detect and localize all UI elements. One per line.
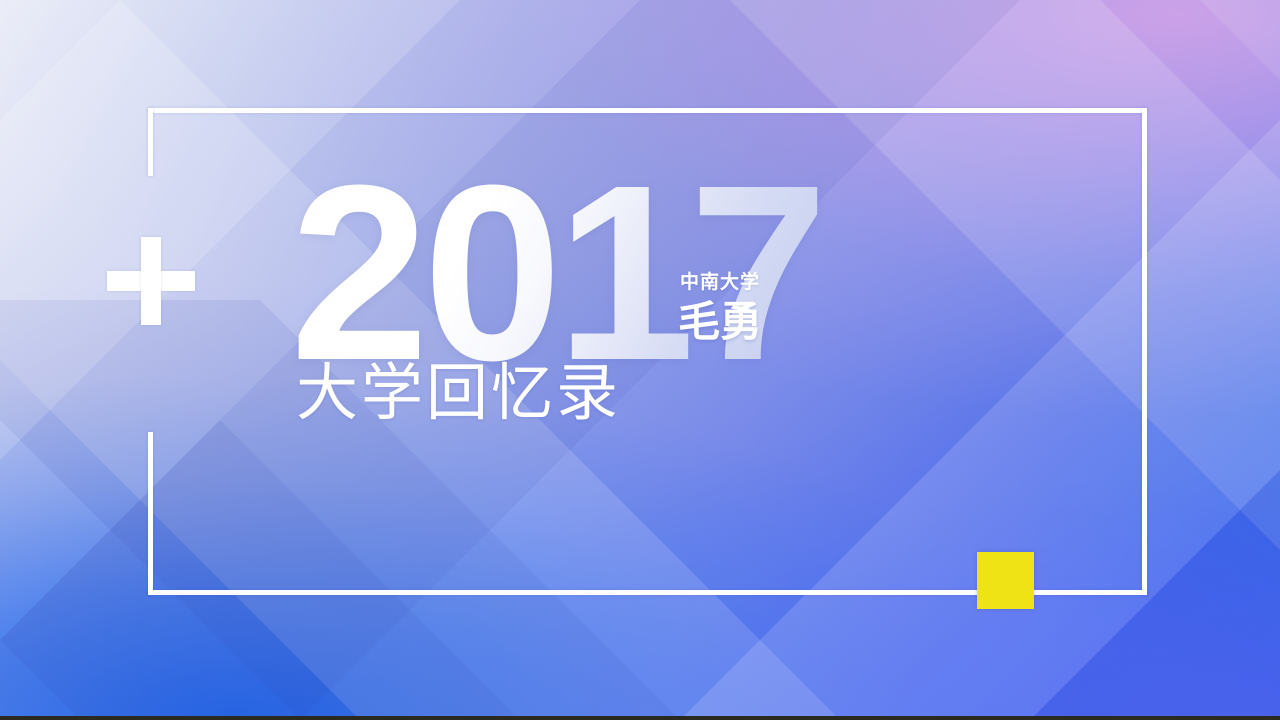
author-name-label: 毛勇 [678,301,762,343]
plus-icon [107,237,195,325]
presentation-title-slide: 2017 大学回忆录 中南大学 毛勇 [0,0,1280,720]
bottom-edge-bar [0,716,1280,720]
slide-subtitle: 大学回忆录 [296,362,621,424]
plus-icon-vertical-bar [141,237,161,325]
school-name-label: 中南大学 [680,273,760,292]
accent-square [977,552,1034,609]
